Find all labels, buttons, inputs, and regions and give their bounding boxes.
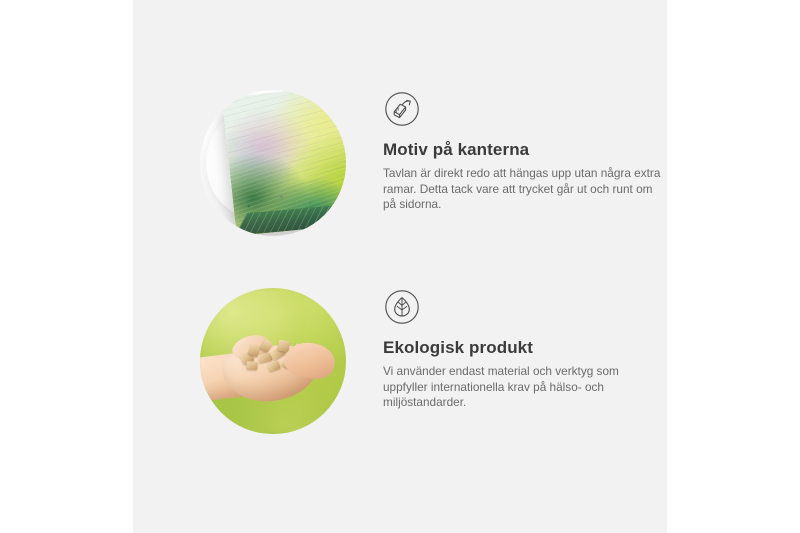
feature-title: Ekologisk produkt xyxy=(383,338,673,358)
feature-image-wrap-2 xyxy=(200,288,346,434)
canvas-printed-edges-icon xyxy=(383,90,421,128)
canvas-print-corner-photo xyxy=(200,90,346,236)
feature-description: Tavlan är direkt redo att hängas upp uta… xyxy=(383,166,663,213)
hands-holding-wood-chips-photo xyxy=(200,288,346,434)
feature-title: Motiv på kanterna xyxy=(383,140,673,160)
product-feature-page: Motiv på kanterna Tavlan är direkt redo … xyxy=(0,0,800,533)
feature-text-2: Ekologisk produkt Vi använder endast mat… xyxy=(383,288,673,411)
leaf-icon xyxy=(383,288,421,326)
feature-text-1: Motiv på kanterna Tavlan är direkt redo … xyxy=(383,90,673,213)
content-panel: Motiv på kanterna Tavlan är direkt redo … xyxy=(133,0,667,533)
canvas-slab xyxy=(222,90,346,236)
feature-image-wrap-1 xyxy=(200,90,346,236)
feature-description: Vi använder endast material och verktyg … xyxy=(383,364,663,411)
